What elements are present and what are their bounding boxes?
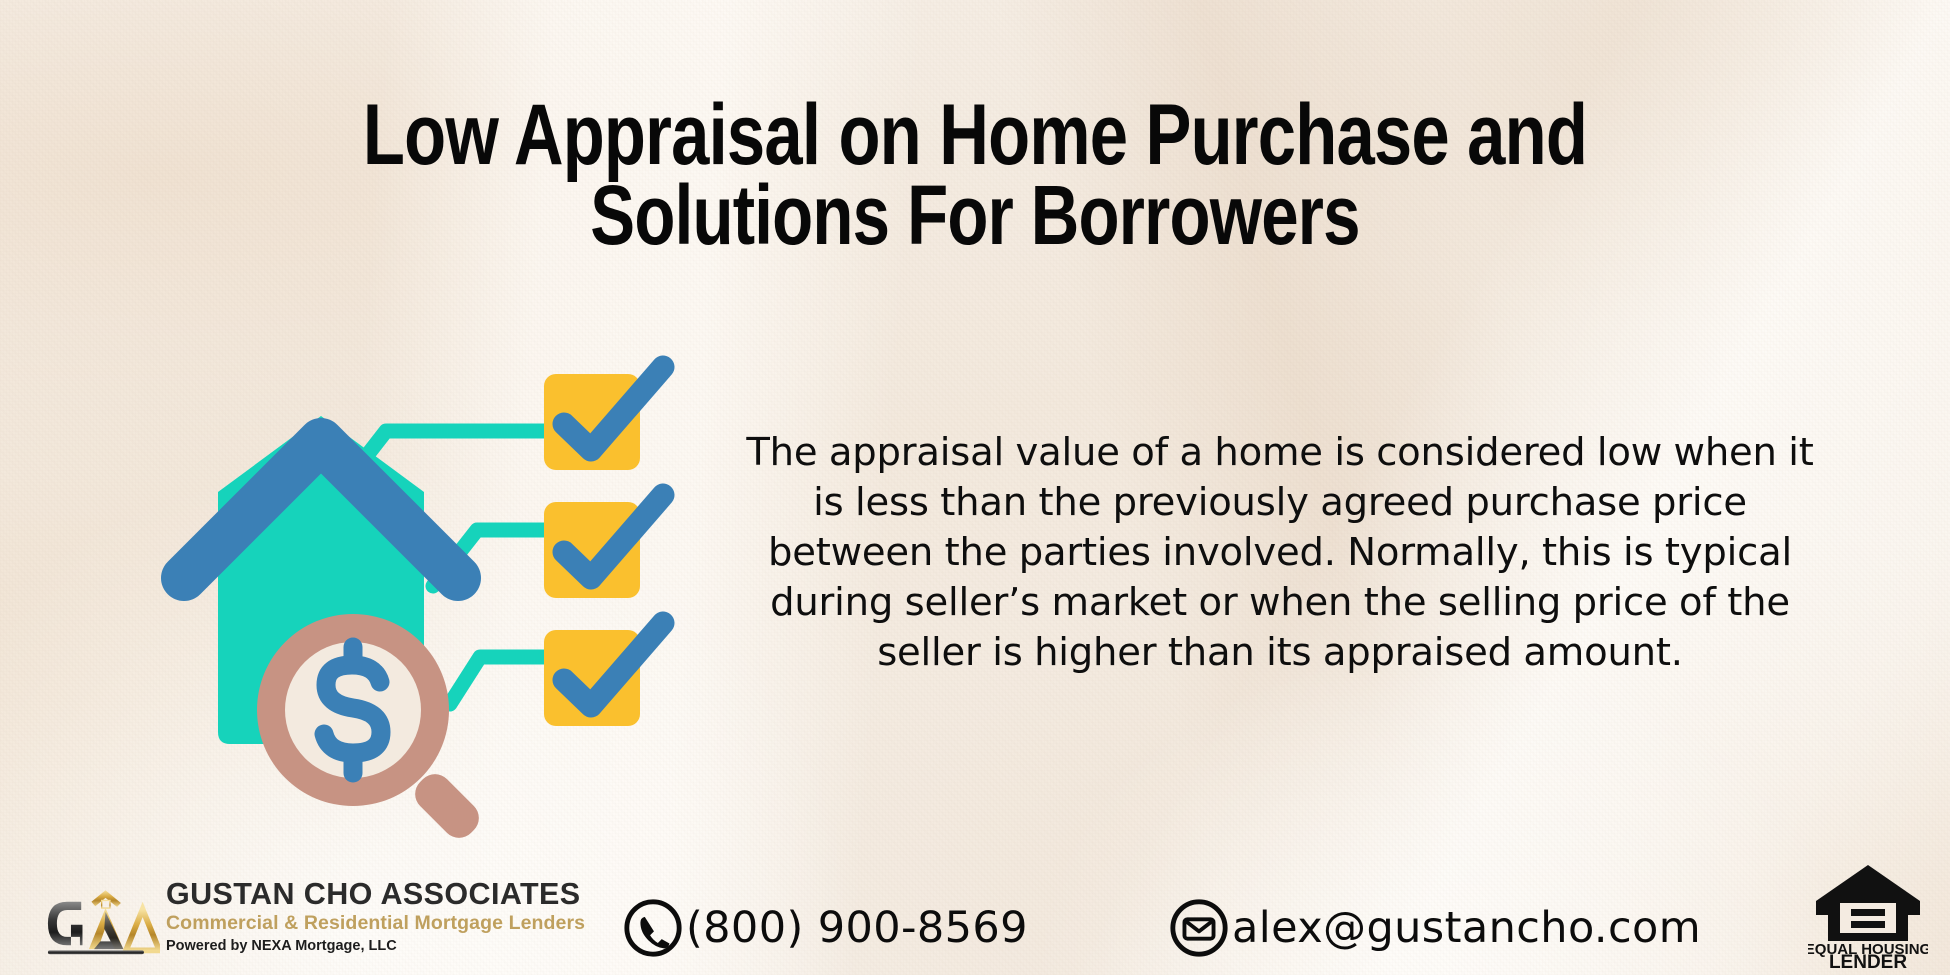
poster-canvas: Low Appraisal on Home Purchase and Solut… [0,0,1950,975]
checkbox-item-2 [544,495,663,598]
body-paragraph: The appraisal value of a home is conside… [735,428,1825,678]
phone-circle-icon [622,897,684,959]
gustan-cho-associates-logo[interactable]: GUSTAN CHO ASSOCIATES Commercial & Resid… [28,871,585,967]
gca-powered-by: Powered by NEXA Mortgage, LLC [166,938,585,955]
magnifier-dollar-icon [257,614,486,842]
equal-housing-lender-icon: EQUAL HOUSING LENDER [1808,857,1928,969]
phone-number: (800) 900-8569 [686,903,1028,953]
gca-tagline: Commercial & Residential Mortgage Lender… [166,912,585,935]
page-title: Low Appraisal on Home Purchase and Solut… [0,96,1950,254]
dollar-sign [324,647,381,773]
headline-line-2: Solutions For Borrowers [195,176,1755,254]
body-copy: The appraisal value of a home is conside… [735,428,1825,678]
contact-phone[interactable]: (800) 900-8569 [622,897,1028,959]
envelope-circle-icon [1168,897,1230,959]
ehl-line-2: LENDER [1829,952,1907,969]
gca-company-name: GUSTAN CHO ASSOCIATES [166,879,585,910]
contact-email[interactable]: alex@gustancho.com [1168,897,1701,959]
email-address: alex@gustancho.com [1232,903,1701,953]
gca-wordmark: GUSTAN CHO ASSOCIATES Commercial & Resid… [166,879,585,960]
checkbox-list [544,367,663,726]
headline-line-1: Low Appraisal on Home Purchase and [195,96,1755,176]
checkbox-item-1 [544,367,663,470]
house-appraisal-checklist-illustration [150,312,680,842]
gca-monogram-icon [28,871,160,967]
checkbox-item-3 [544,623,663,726]
footer-bar: GUSTAN CHO ASSOCIATES Commercial & Resid… [0,830,1950,975]
